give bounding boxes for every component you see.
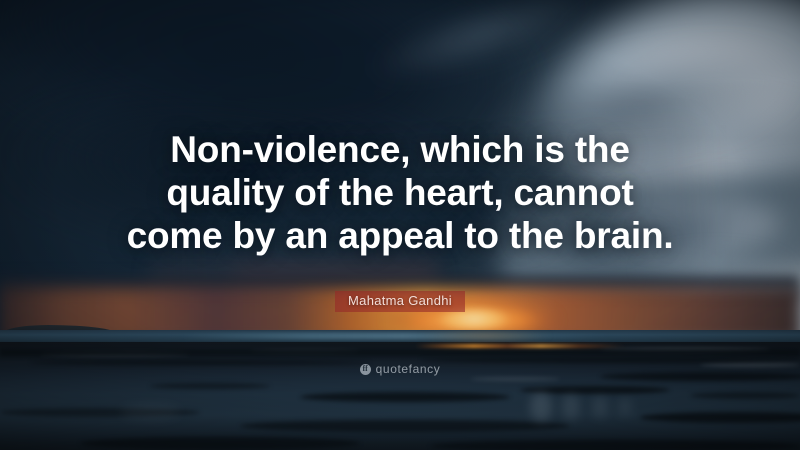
quote-line-3: come by an appeal to the brain. — [0, 214, 800, 257]
quotefancy-logo-icon: ff — [360, 364, 371, 375]
quote-line-1: Non-violence, which is the — [0, 128, 800, 171]
watermark-brand-label: quotefancy — [376, 363, 441, 375]
quote-image-canvas: Non-violence, which is the quality of th… — [0, 0, 800, 450]
author-name: Mahatma Gandhi — [335, 291, 465, 312]
quote-line-2: quality of the heart, cannot — [0, 171, 800, 214]
logo-glyph: ff — [362, 365, 367, 373]
quotefancy-watermark: ff quotefancy — [0, 363, 800, 375]
quote-text-block: Non-violence, which is the quality of th… — [0, 128, 800, 257]
author-attribution: Mahatma Gandhi — [0, 291, 800, 312]
